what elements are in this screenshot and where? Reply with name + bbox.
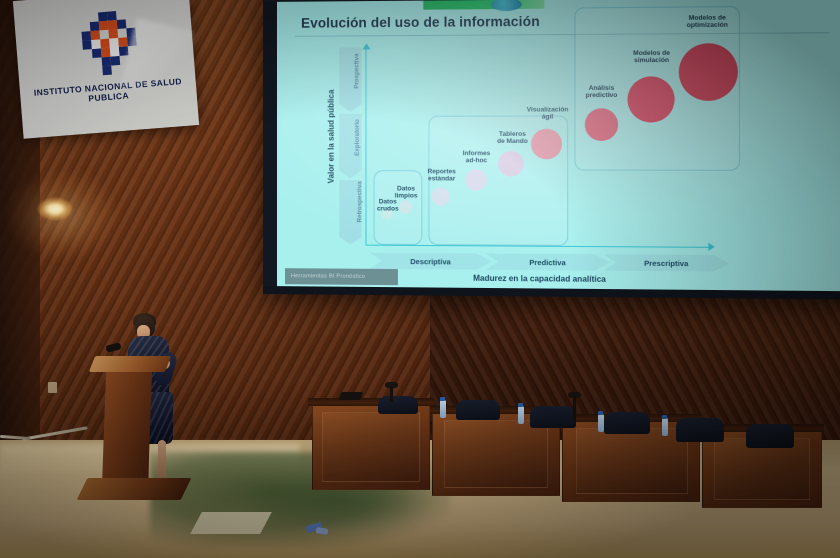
bubble-modelos-de-optimizacion [679, 43, 738, 101]
bubble-informes-ad-hoc [465, 169, 487, 190]
floor-light-patch [190, 512, 272, 534]
bubble-analisis-predictivo [585, 108, 618, 141]
bubble-tableros-de-mando [498, 151, 524, 176]
bubble-modelos-de-simulacion [628, 76, 675, 122]
screen-bezel-left [263, 0, 277, 294]
chair-4 [604, 412, 650, 434]
water-bottle-1 [440, 400, 446, 418]
bubble-label-tableros-de-mando: Tableros de Mando [491, 131, 534, 146]
y-stage-prospectiva: Prospectiva [339, 68, 361, 98]
chair-6 [746, 424, 794, 448]
podium-base [77, 478, 192, 500]
chair-1 [378, 396, 418, 414]
x-stage-descriptiva: Descriptiva [370, 253, 492, 270]
y-axis-arrow [362, 43, 370, 49]
bubble-label-visualizacion-agil: Visualización ágil [521, 106, 575, 121]
wall-socket [48, 382, 57, 393]
podium-desktop [89, 356, 171, 372]
title-divider [295, 32, 829, 37]
chair-5 [676, 418, 724, 442]
water-bottle-2 [518, 406, 524, 424]
x-axis-label: Madurez en la capacidad analítica [365, 273, 716, 285]
table-panel-middle [444, 420, 548, 488]
water-bottle-cap-3 [598, 411, 603, 415]
table-microphone-stand-2 [573, 396, 576, 420]
table-panel-right [576, 428, 688, 494]
bubble-label-modelos-de-simulacion: Modelos de simulación [622, 50, 681, 65]
x-stage-prescriptiva: Prescriptiva [604, 254, 730, 271]
bubble-datos-limpios [399, 200, 412, 213]
bubble-reportes-estandar [431, 187, 449, 205]
slide-content: Evolución del uso de la información Valo… [277, 0, 840, 291]
ceiling-spotlight [38, 198, 72, 220]
y-stage-retrospectiva: Retrospectiva [339, 198, 361, 228]
podium-body [102, 368, 152, 490]
slide-top-band [423, 0, 544, 10]
water-bottle-cap-4 [662, 415, 667, 419]
conference-room-photo: INSTITUTO NACIONAL DE SALUD PUBLICA Evol… [0, 0, 840, 558]
x-stage-predictiva: Predictiva [486, 254, 610, 271]
y-stage-exploratorio: Exploratorio [339, 134, 361, 164]
bubble-label-datos-crudos: Datos crudos [374, 198, 402, 213]
water-bottle-cap-1 [440, 397, 445, 401]
table-object-dark [339, 392, 364, 400]
insp-banner: INSTITUTO NACIONAL DE SALUD PUBLICA [13, 0, 199, 139]
projection-screen: Evolución del uso de la información Valo… [263, 0, 840, 300]
water-bottle-3 [598, 414, 604, 432]
table-microphone-stand-1 [390, 386, 393, 402]
water-bottle-cap-2 [518, 403, 523, 407]
bubble-label-informes-ad-hoc: Informes ad-hoc [457, 150, 496, 165]
bubble-label-reportes-estandar: Reportes estándar [422, 168, 461, 183]
bubble-label-datos-limpios: Datos limpios [392, 185, 420, 200]
water-bottle-4 [662, 418, 668, 436]
y-axis-line [365, 47, 366, 244]
bubble-label-modelos-de-optimizacion: Modelos de optimización [675, 14, 740, 30]
x-axis-line [365, 245, 710, 249]
slide-corner-logo [491, 0, 522, 11]
x-axis-arrow [708, 243, 714, 251]
bubble-label-analisis-predictivo: Análisis predictivo [579, 85, 625, 100]
speaker-leg-right [158, 440, 166, 482]
bubble-visualizacion-agil [531, 129, 562, 160]
slide-title: Evolución del uso de la información [301, 14, 540, 31]
y-axis-label: Valor en la salud pública [327, 56, 336, 217]
screen-surface: Evolución del uso de la información Valo… [277, 0, 840, 291]
chair-2 [456, 400, 500, 420]
chair-3 [530, 406, 576, 428]
slide-footer: Herramientas BI Pronóstico [285, 268, 398, 285]
table-panel-left [322, 412, 420, 482]
